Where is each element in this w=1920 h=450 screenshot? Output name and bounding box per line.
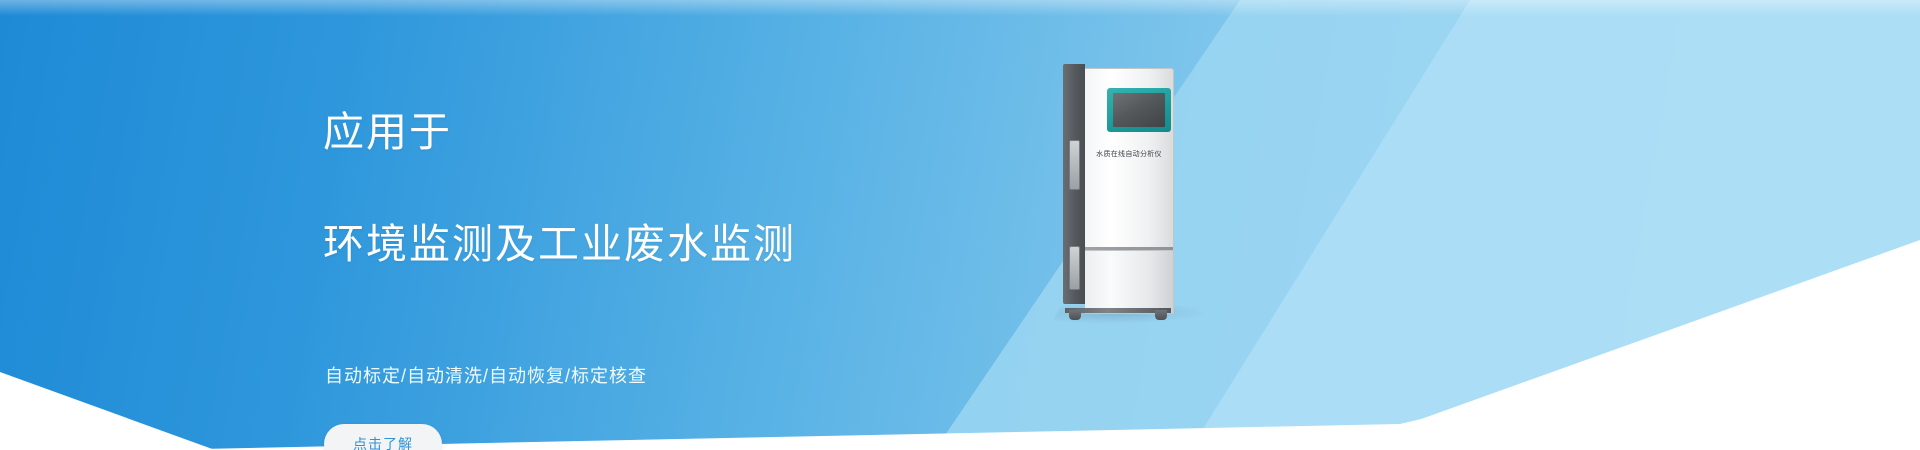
hero-copy: 应用于 环境监测及工业废水监测 自动标定/自动清洗/自动恢复/标定核查 点击了解: [323, 48, 1083, 450]
device-caster-right: [1155, 310, 1167, 320]
device-handle-lower: [1069, 246, 1080, 290]
background-top-fade: [0, 0, 1920, 16]
device-handle-upper: [1069, 140, 1080, 190]
device-display-screen: [1113, 93, 1165, 127]
hero-subtitle: 自动标定/自动清洗/自动恢复/标定核查: [325, 362, 1083, 388]
water-quality-analyzer-image: 水质在线自动分析仪: [1063, 64, 1173, 310]
device-seam: [1085, 247, 1173, 250]
device-label-text: 水质在线自动分析仪: [1087, 149, 1171, 159]
headline-line-1: 应用于: [323, 104, 1083, 160]
device-lower-cabinet: [1085, 250, 1174, 314]
learn-more-button[interactable]: 点击了解: [324, 424, 442, 450]
page-title: 应用于 环境监测及工业废水监测: [323, 48, 1083, 328]
hero-banner: 应用于 环境监测及工业废水监测 自动标定/自动清洗/自动恢复/标定核查 点击了解…: [0, 0, 1920, 450]
device-caster-left: [1069, 310, 1081, 320]
device-side-panel: [1063, 64, 1085, 304]
headline-line-2: 环境监测及工业废水监测: [323, 216, 1083, 272]
